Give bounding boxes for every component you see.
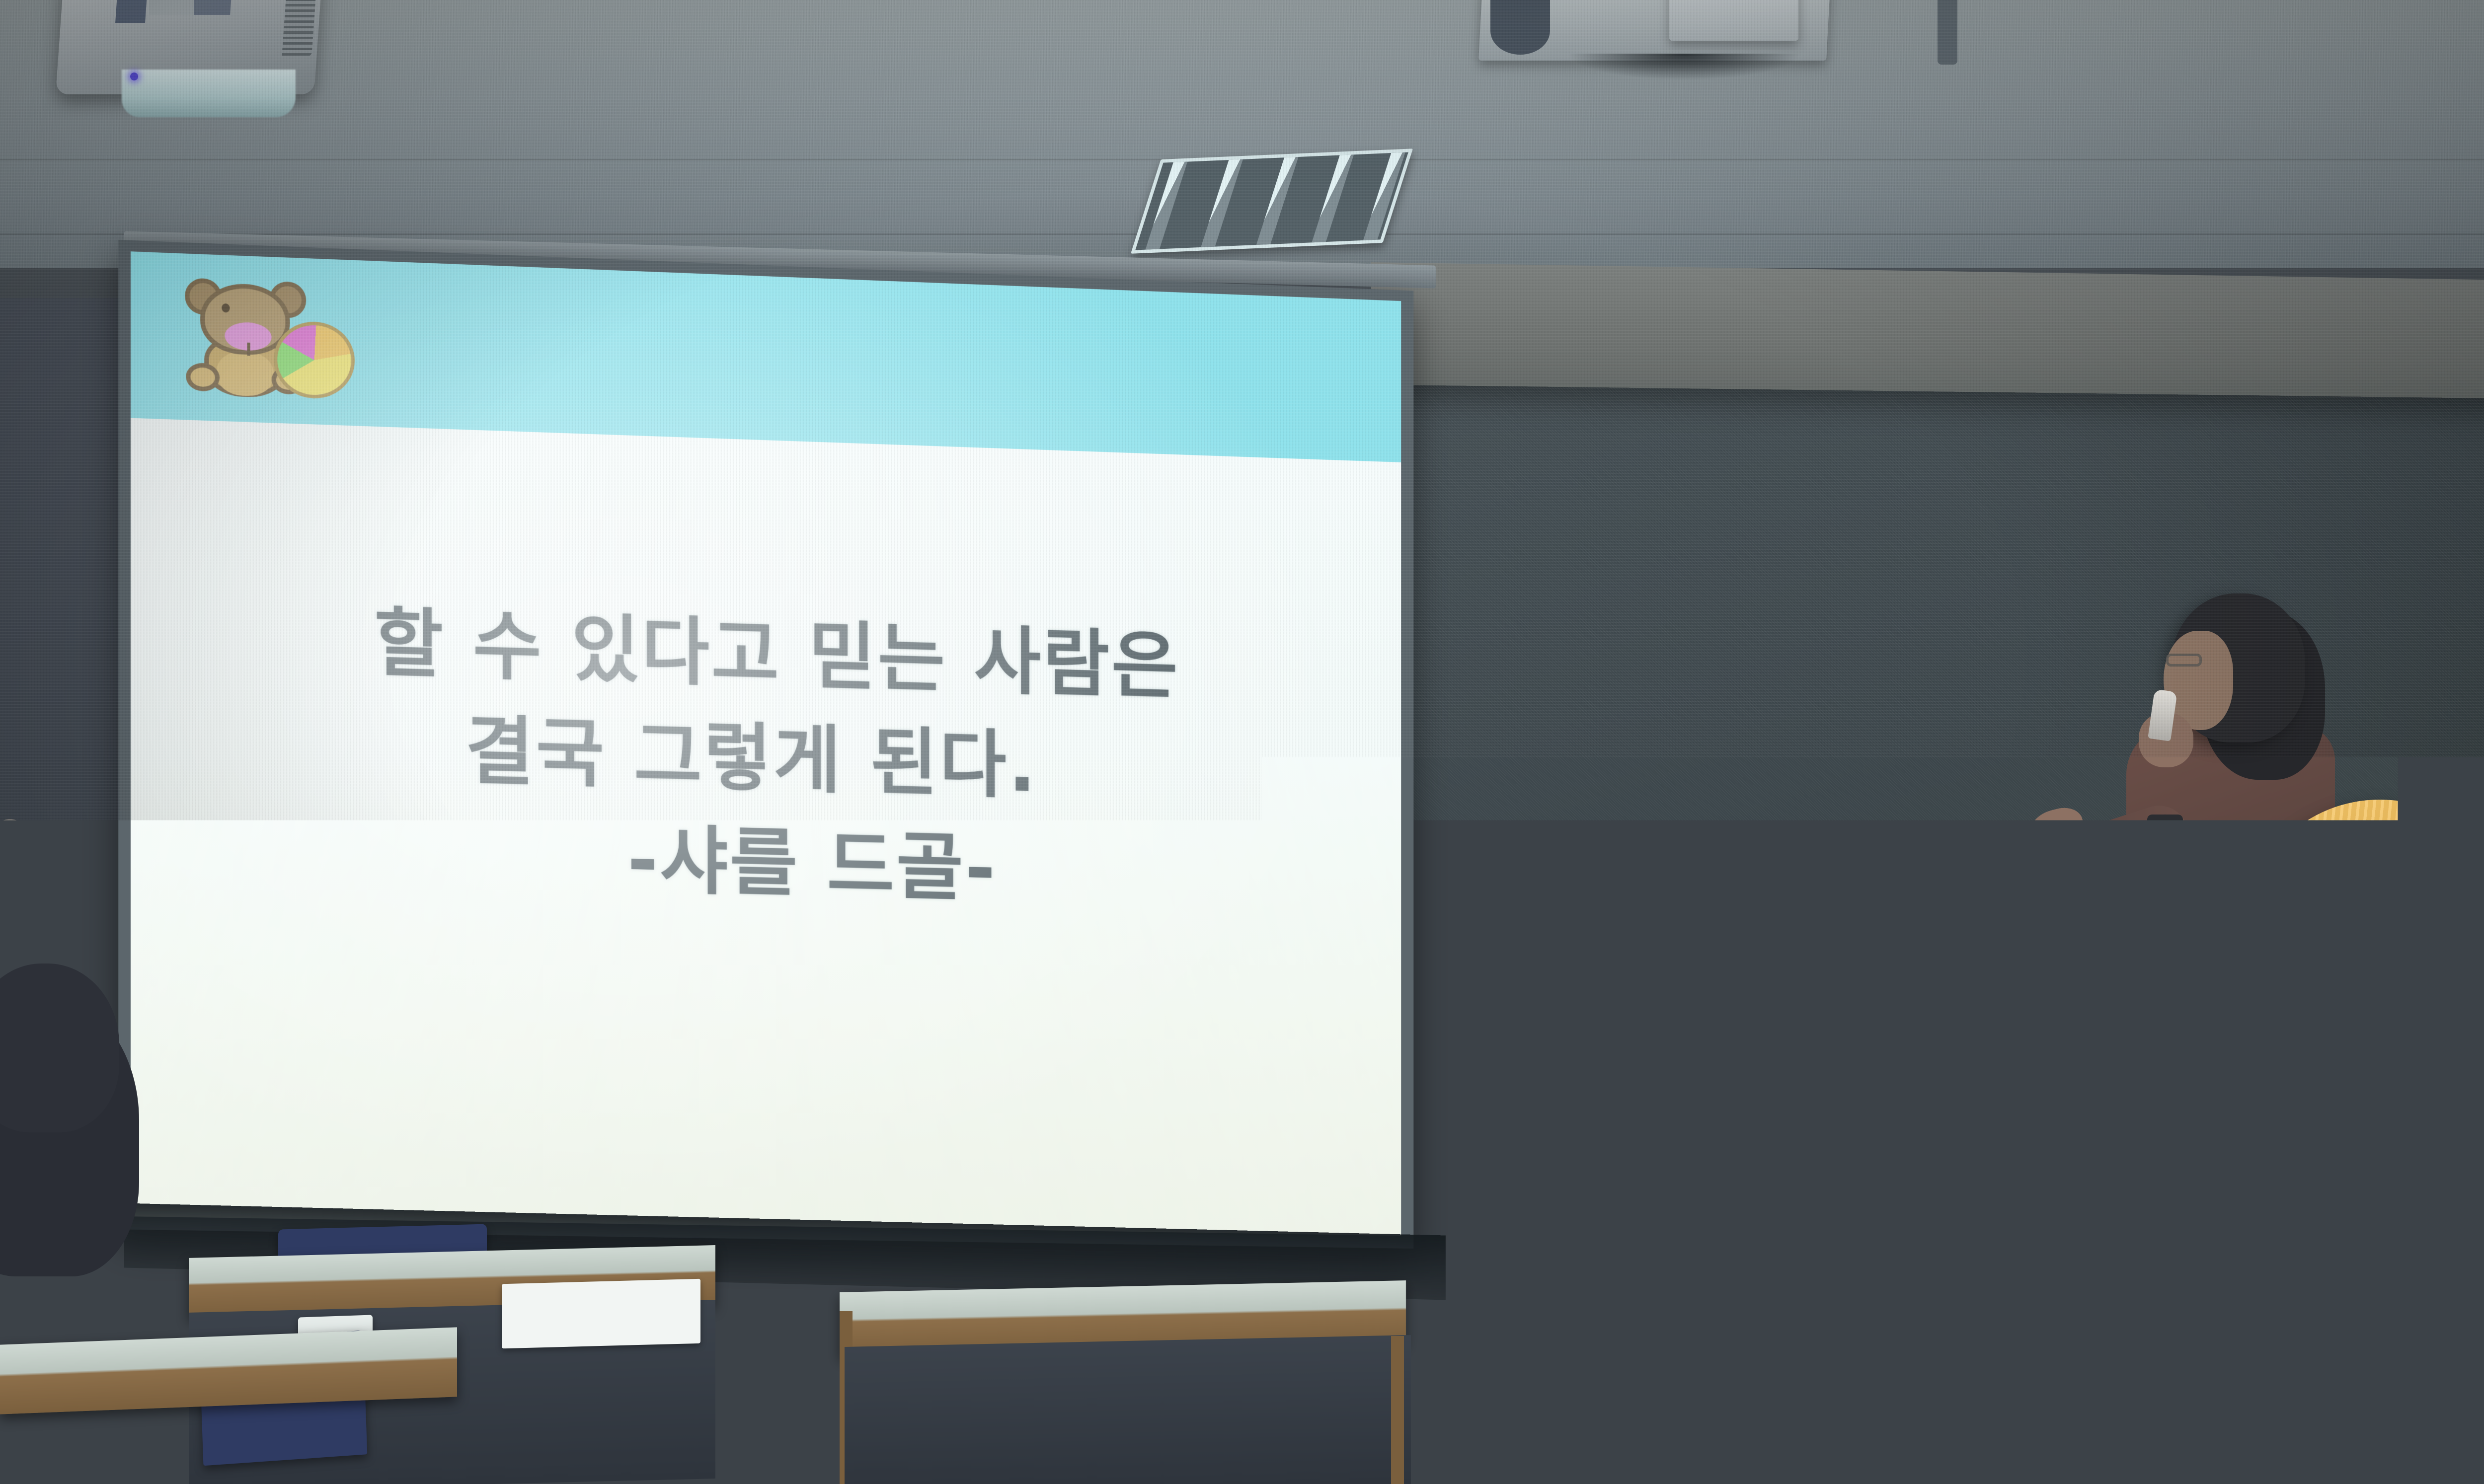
projector-vent	[282, 0, 316, 57]
teddy-bear-and-ball-clipart	[166, 268, 355, 406]
desk-papers	[502, 1279, 700, 1348]
red-object-behind-bottle	[1742, 1460, 1796, 1484]
presenter-glasses	[2166, 654, 2202, 667]
lecture-hall-photo: 할 수 있다고 믿는 사람은 결국 그렇게 된다. -샤를 드골-	[0, 0, 2484, 1484]
bottle-cap	[1753, 1296, 1785, 1324]
vent-slat	[1312, 154, 1354, 242]
projector-lens	[122, 70, 296, 117]
water-bottle	[1739, 1296, 1798, 1484]
quote-attribution: -샤를 드골-	[364, 801, 1180, 925]
bear-eye-icon	[222, 303, 230, 313]
hair-strand-texture	[2348, 1010, 2476, 1274]
bear-belly-icon	[217, 351, 274, 397]
projector-led-icon	[130, 73, 138, 80]
projection-screen-surface: 할 수 있다고 믿는 사람은 결국 그렇게 된다. -샤를 드골-	[131, 251, 1401, 1236]
ceiling-fixture-shadow	[1570, 54, 1798, 79]
bear-nose-icon	[247, 343, 250, 356]
projector-panel	[115, 0, 148, 23]
ponytail	[2348, 1010, 2476, 1274]
presentation-slide: 할 수 있다고 믿는 사람은 결국 그렇게 된다. -샤를 드골-	[131, 251, 1401, 1236]
projection-screen: 할 수 있다고 믿는 사람은 결국 그렇게 된다. -샤를 드골-	[118, 240, 1413, 1249]
bottle-label-mark	[1748, 1388, 1784, 1401]
microphone-highlight	[2162, 830, 2179, 865]
bottle-label	[1739, 1371, 1798, 1425]
ceiling-light-fixture	[1669, 0, 1798, 41]
ceiling-fixture-edge	[1938, 0, 1957, 65]
vent-slat	[1201, 159, 1243, 247]
desk-leg	[1391, 1336, 1404, 1484]
projector-mount-bracket	[149, 0, 194, 15]
desk-front-panel	[845, 1335, 1411, 1484]
quote-block: 할 수 있다고 믿는 사람은 결국 그렇게 된다. -샤를 드골-	[364, 590, 1180, 925]
slide-body: 할 수 있다고 믿는 사람은 결국 그렇게 된다. -샤를 드골-	[131, 418, 1401, 1236]
vent-slat	[1256, 157, 1299, 245]
ceiling-air-vent	[1131, 148, 1413, 254]
ceiling-fixture-recess	[1490, 0, 1550, 55]
